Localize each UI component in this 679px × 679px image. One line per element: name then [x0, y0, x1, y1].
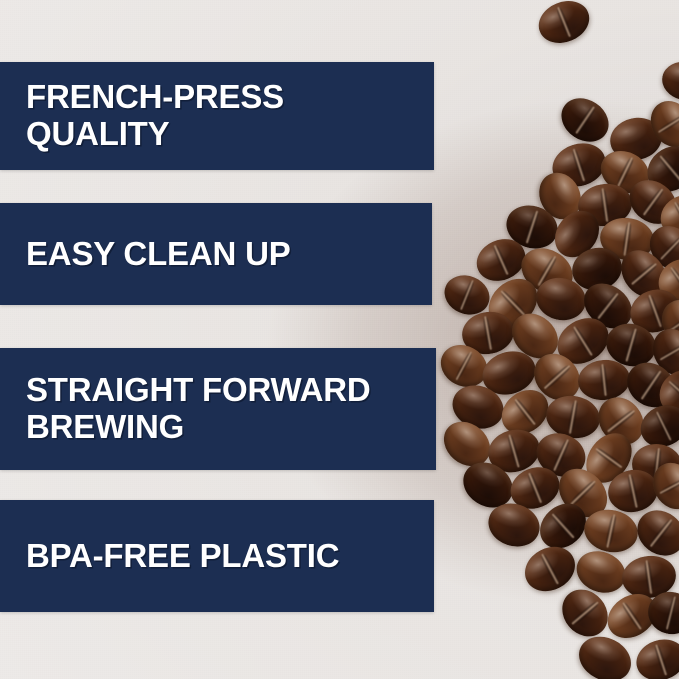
feature-bar-straight-forward-brewing: STRAIGHT FORWARD BREWING: [0, 348, 436, 470]
feature-bar-label: EASY CLEAN UP: [0, 236, 303, 273]
coffee-feature-infographic: FRENCH-PRESS QUALITYEASY CLEAN UPSTRAIGH…: [0, 0, 679, 679]
feature-bar-easy-clean-up: EASY CLEAN UP: [0, 203, 432, 305]
feature-bar-label: FRENCH-PRESS QUALITY: [0, 79, 296, 153]
feature-bar-bpa-free-plastic: BPA-FREE PLASTIC: [0, 500, 434, 612]
feature-bar-french-press-quality: FRENCH-PRESS QUALITY: [0, 62, 434, 170]
feature-bar-label: STRAIGHT FORWARD BREWING: [0, 372, 383, 446]
feature-bar-label: BPA-FREE PLASTIC: [0, 538, 351, 575]
